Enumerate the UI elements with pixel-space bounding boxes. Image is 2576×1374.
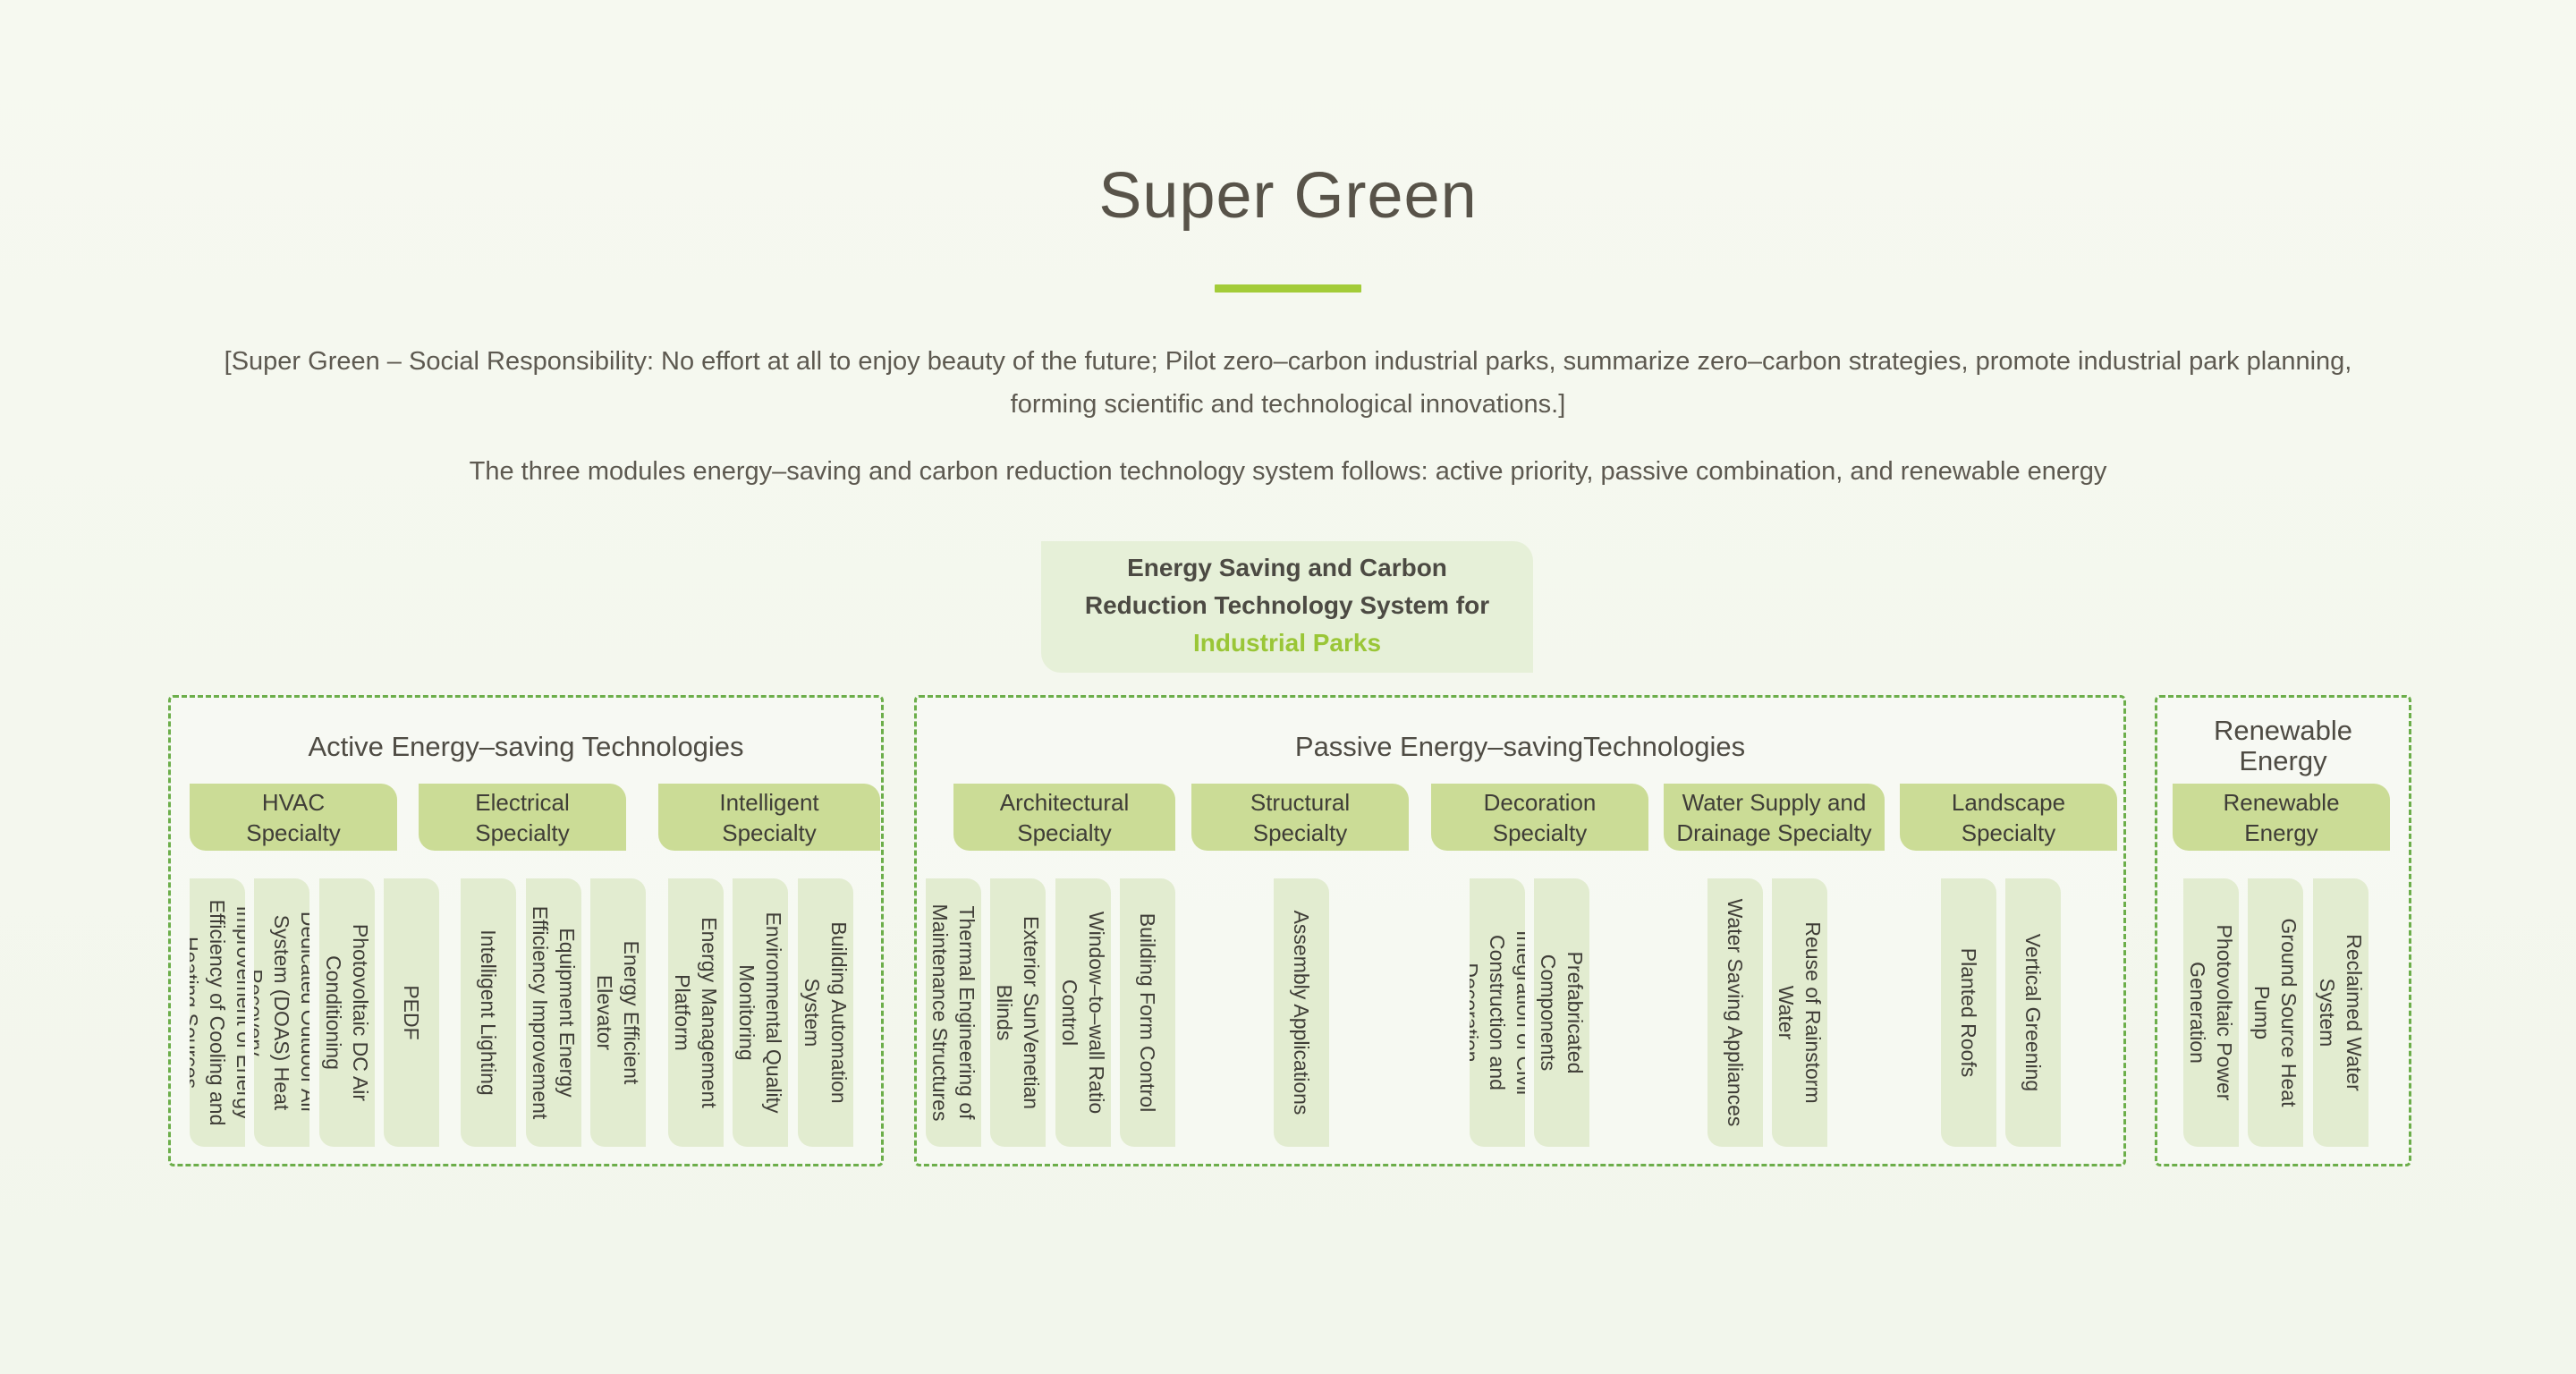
technology-item[interactable]: Integration of Civil Construction and De… — [1470, 878, 1525, 1147]
subnote-paragraph: The three modules energy–saving and carb… — [206, 452, 2370, 491]
page-title: Super Green — [0, 159, 2576, 233]
root-system-box: Energy Saving and Carbon Reduction Techn… — [1041, 541, 1533, 673]
technology-item[interactable]: Intelligent Lighting — [461, 878, 516, 1147]
specialty-chip-active-2[interactable]: Intelligent Specialty — [658, 784, 880, 851]
technology-item-label: Vertical Greening — [2020, 878, 2046, 1147]
root-box-line-1: Energy Saving and Carbon — [1127, 549, 1447, 587]
technology-item-label: Energy Management Platform — [669, 878, 723, 1147]
technology-item-label: Energy Efficient Elevator — [591, 878, 645, 1147]
technology-item[interactable]: Environmental Quality Monitoring — [733, 878, 788, 1147]
specialty-chip-passive-3[interactable]: Water Supply and Drainage Specialty — [1664, 784, 1885, 851]
technology-item-label: Integration of Civil Construction and De… — [1470, 878, 1525, 1147]
technology-item[interactable]: Energy Efficient Elevator — [590, 878, 646, 1147]
technology-item[interactable]: Reuse of Rainstorm Water — [1772, 878, 1827, 1147]
panel-title-renewable: Renewable Energy — [2155, 716, 2411, 776]
technology-item-label: Environmental Quality Monitoring — [733, 878, 787, 1147]
technology-item-label: Planted Roofs — [1955, 878, 1982, 1147]
specialty-chip-passive-0[interactable]: Architectural Specialty — [953, 784, 1175, 851]
specialty-chip-passive-4[interactable]: Landscape Specialty — [1900, 784, 2117, 851]
technology-item-label: Improvement of Energy Efficiency of Cool… — [190, 878, 245, 1147]
technology-item-label: Prefabricated Components — [1535, 878, 1589, 1147]
technology-item[interactable]: Equipment Energy Efficiency Improvement — [526, 878, 581, 1147]
specialty-chip-passive-1[interactable]: Structural Specialty — [1191, 784, 1409, 851]
technology-item-label: Photovoltaic DC Air Conditioning — [320, 878, 374, 1147]
technology-item[interactable]: Assembly Applications — [1274, 878, 1329, 1147]
technology-item[interactable]: Ground Source Heat Pump — [2248, 878, 2303, 1147]
technology-item-label: Water Saving Appliances — [1722, 878, 1749, 1147]
technology-item-label: Building Form Control — [1134, 878, 1161, 1147]
technology-item-label: Assembly Applications — [1288, 878, 1315, 1147]
specialty-chip-renewable-0[interactable]: Renewable Energy — [2173, 784, 2390, 851]
technology-item-label: Photovoltaic Power Generation — [2184, 878, 2238, 1147]
technology-item-label: Dedicated Outdoor Air System (DOAS) Heat… — [254, 878, 309, 1147]
technology-item-label: PEDF — [398, 878, 425, 1147]
technology-item-label: Intelligent Lighting — [475, 878, 502, 1147]
technology-item-label: Window–to–wall Ratio Control — [1056, 878, 1110, 1147]
specialty-chip-active-1[interactable]: Electrical Specialty — [419, 784, 626, 851]
technology-item[interactable]: Prefabricated Components — [1534, 878, 1589, 1147]
technology-item-label: Reuse of Rainstorm Water — [1773, 878, 1826, 1147]
technology-item[interactable]: Water Saving Appliances — [1707, 878, 1763, 1147]
technology-item[interactable]: Window–to–wall Ratio Control — [1055, 878, 1111, 1147]
panel-title-passive: Passive Energy–savingTechnologies — [914, 732, 2126, 762]
technology-item[interactable]: Photovoltaic Power Generation — [2183, 878, 2239, 1147]
technology-item[interactable]: Vertical Greening — [2005, 878, 2061, 1147]
title-underline-rule — [1215, 284, 1361, 293]
technology-item[interactable]: Building Automation System — [798, 878, 853, 1147]
technology-item[interactable]: Planted Roofs — [1941, 878, 1996, 1147]
specialty-chip-active-0[interactable]: HVAC Specialty — [190, 784, 397, 851]
panel-title-active: Active Energy–saving Technologies — [168, 732, 884, 762]
technology-item[interactable]: Dedicated Outdoor Air System (DOAS) Heat… — [254, 878, 309, 1147]
diagram-canvas: Super Green [Super Green – Social Respon… — [0, 0, 2576, 1374]
root-box-line-2: Reduction Technology System for — [1085, 587, 1489, 624]
technology-item[interactable]: Photovoltaic DC Air Conditioning — [319, 878, 375, 1147]
specialty-chip-passive-2[interactable]: Decoration Specialty — [1431, 784, 1648, 851]
technology-item-label: Thermal Engineering of Maintenance Struc… — [927, 878, 980, 1147]
technology-item[interactable]: PEDF — [384, 878, 439, 1147]
technology-item-label: Building Automation System — [799, 878, 852, 1147]
technology-item[interactable]: Energy Management Platform — [668, 878, 724, 1147]
technology-item-label: Ground Source Heat Pump — [2249, 878, 2302, 1147]
technology-item[interactable]: Exterior SunVenetian Blinds — [990, 878, 1046, 1147]
technology-item-label: Equipment Energy Efficiency Improvement — [527, 878, 580, 1147]
technology-item[interactable]: Improvement of Energy Efficiency of Cool… — [190, 878, 245, 1147]
lede-paragraph: [Super Green – Social Responsibility: No… — [206, 340, 2370, 426]
technology-item[interactable]: Reclaimed Water System — [2313, 878, 2368, 1147]
technology-item-label: Exterior SunVenetian Blinds — [991, 878, 1045, 1147]
technology-item-label: Reclaimed Water System — [2314, 878, 2368, 1147]
technology-item[interactable]: Building Form Control — [1120, 878, 1175, 1147]
technology-item[interactable]: Thermal Engineering of Maintenance Struc… — [926, 878, 981, 1147]
root-box-line-3-accent: Industrial Parks — [1193, 624, 1381, 662]
